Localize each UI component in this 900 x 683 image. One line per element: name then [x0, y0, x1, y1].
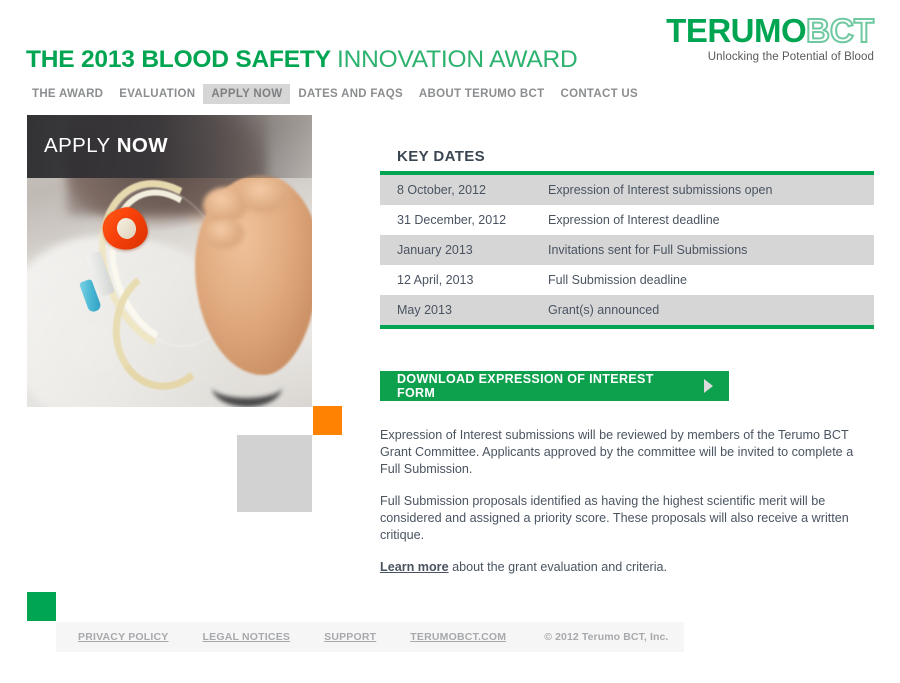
table-cell-milestone: Grant(s) announced	[548, 295, 874, 325]
logo-brand-primary: TERUMO	[666, 14, 806, 47]
table-cell-milestone: Expression of Interest deadline	[548, 205, 874, 235]
terumo-bct-logo[interactable]: TERUMOBCT Unlocking the Potential of Blo…	[666, 14, 874, 63]
hero-caption-bold: NOW	[117, 134, 168, 157]
key-dates-table: 8 October, 2012 Expression of Interest s…	[380, 175, 874, 325]
download-button-label: DOWNLOAD EXPRESSION OF INTEREST FORM	[397, 372, 694, 400]
content-column: KEY DATES 8 October, 2012 Expression of …	[380, 148, 874, 576]
paragraph-merit-scoring: Full Submission proposals identified as …	[380, 493, 874, 544]
learn-more-rest-text: about the grant evaluation and criteria.	[449, 560, 667, 574]
main-navigation: THE AWARD EVALUATION APPLY NOW DATES AND…	[24, 84, 646, 104]
table-row: January 2013 Invitations sent for Full S…	[380, 235, 874, 265]
table-cell-date: January 2013	[380, 235, 548, 265]
table-cell-milestone: Expression of Interest submissions open	[548, 175, 874, 205]
hero-image: APPLY NOW	[27, 115, 312, 407]
table-cell-date: 12 April, 2013	[380, 265, 548, 295]
hero-caption-band: APPLY NOW	[27, 115, 312, 178]
table-row: May 2013 Grant(s) announced	[380, 295, 874, 325]
paragraph-review-process: Expression of Interest submissions will …	[380, 427, 874, 478]
page-title-bold: THE 2013 BLOOD SAFETY	[26, 46, 330, 73]
footer-link-privacy-policy[interactable]: PRIVACY POLICY	[78, 631, 169, 643]
table-cell-date: 8 October, 2012	[380, 175, 548, 205]
nav-item-about-terumo-bct[interactable]: ABOUT TERUMO BCT	[411, 84, 553, 104]
nav-item-evaluation[interactable]: EVALUATION	[111, 84, 203, 104]
footer-link-support[interactable]: SUPPORT	[324, 631, 376, 643]
body-copy: Expression of Interest submissions will …	[380, 427, 874, 576]
nav-item-the-award[interactable]: THE AWARD	[24, 84, 111, 104]
page-root: TERUMOBCT Unlocking the Potential of Blo…	[0, 0, 900, 683]
nav-item-contact-us[interactable]: CONTACT US	[552, 84, 646, 104]
table-row: 31 December, 2012 Expression of Interest…	[380, 205, 874, 235]
hero-caption-light: APPLY	[44, 134, 111, 157]
nav-item-dates-and-faqs[interactable]: DATES AND FAQS	[290, 84, 411, 104]
logo-brand-secondary: BCT	[806, 14, 874, 47]
decorative-orange-square	[313, 406, 342, 435]
footer-link-legal-notices[interactable]: LEGAL NOTICES	[203, 631, 291, 643]
decorative-green-square	[27, 592, 56, 621]
footer-links: PRIVACY POLICY LEGAL NOTICES SUPPORT TER…	[78, 631, 668, 643]
footer-copyright: © 2012 Terumo BCT, Inc.	[544, 631, 668, 643]
paragraph-learn-more: Learn more about the grant evaluation an…	[380, 559, 874, 576]
learn-more-link[interactable]: Learn more	[380, 560, 449, 574]
footer: PRIVACY POLICY LEGAL NOTICES SUPPORT TER…	[56, 622, 684, 652]
table-cell-date: 31 December, 2012	[380, 205, 548, 235]
photo-knuckle	[205, 219, 245, 249]
decorative-gray-square	[237, 435, 312, 512]
table-cell-milestone: Full Submission deadline	[548, 265, 874, 295]
arrow-right-icon	[704, 379, 713, 393]
table-cell-date: May 2013	[380, 295, 548, 325]
key-dates-bottom-rule	[380, 325, 874, 329]
table-row: 8 October, 2012 Expression of Interest s…	[380, 175, 874, 205]
logo-wordmark: TERUMOBCT	[666, 14, 874, 47]
table-cell-milestone: Invitations sent for Full Submissions	[548, 235, 874, 265]
footer-link-terumobct-com[interactable]: TERUMOBCT.COM	[410, 631, 506, 643]
nav-item-apply-now[interactable]: APPLY NOW	[203, 84, 290, 104]
download-expression-of-interest-button[interactable]: DOWNLOAD EXPRESSION OF INTEREST FORM	[380, 371, 729, 401]
table-row: 12 April, 2013 Full Submission deadline	[380, 265, 874, 295]
logo-tagline: Unlocking the Potential of Blood	[666, 51, 874, 63]
hero-caption-text: APPLY NOW	[44, 134, 168, 158]
page-title-light: INNOVATION AWARD	[337, 46, 577, 73]
page-title: THE 2013 BLOOD SAFETY INNOVATION AWARD	[26, 46, 577, 74]
key-dates-heading: KEY DATES	[397, 148, 874, 165]
photo-knuckle	[239, 177, 291, 213]
